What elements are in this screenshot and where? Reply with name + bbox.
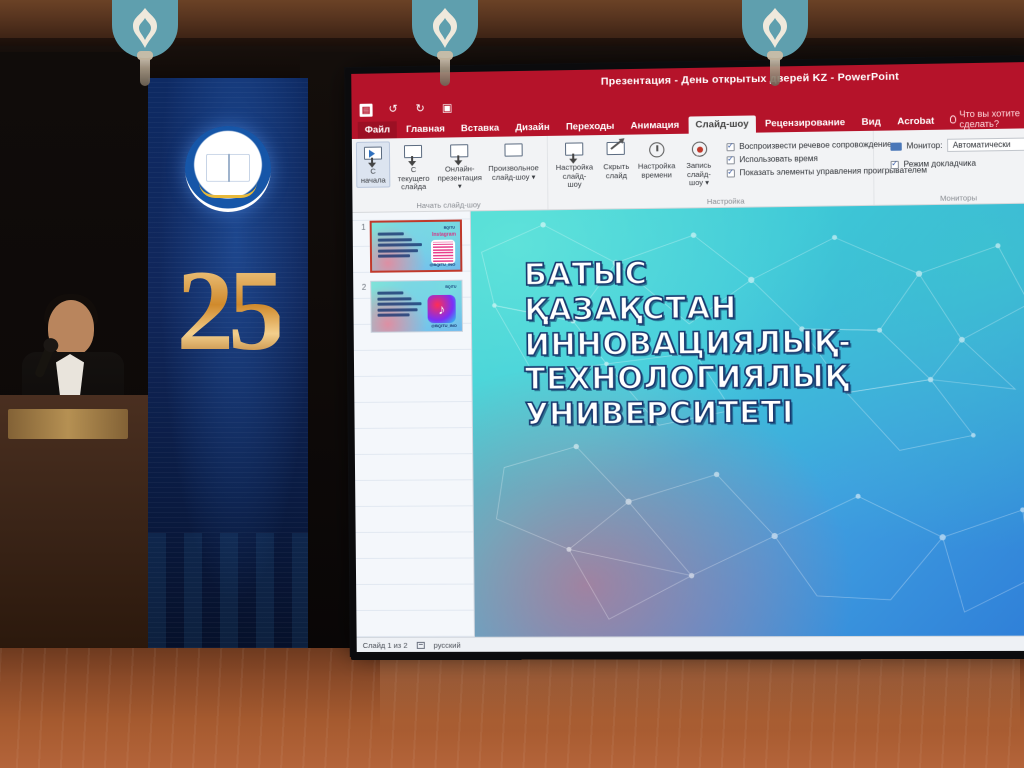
slide-title-line: ИННОВАЦИЯЛЫҚ- [524,324,1010,364]
notes-icon[interactable] [417,642,425,649]
from-beginning-button[interactable]: С начала [356,141,390,188]
anniversary-number: 25 [177,253,280,368]
tell-me-label: Что вы хотите сделать? [959,108,1024,130]
language-indicator[interactable]: русский [434,641,461,650]
slideshow-from-current-icon [401,143,425,165]
tab-view[interactable]: Вид [854,113,888,131]
slide-thumbnail-2[interactable]: BQITU ♪ @BQITU_INO [370,280,463,333]
tab-review[interactable]: Рецензирование [758,114,853,133]
slide-number: 2 [357,281,366,292]
tab-file[interactable]: Файл [358,121,397,139]
slide-title-line: УНИВЕРСИТЕТІ [525,395,1011,434]
list-item[interactable]: 2 BQITU ♪ @BQITU_INO [357,280,465,333]
start-slideshow-icon[interactable]: ▣ [441,102,454,115]
record-slideshow-button[interactable]: Запись слайд-шоу ▾ [679,136,718,190]
monitor-selector[interactable]: Монитор: Автоматически [890,138,1024,153]
projection-screen: Презентация - День открытых дверей KZ - … [349,60,1024,652]
group-label-monitors: Мониторы [874,192,1024,203]
checkbox-icon [726,143,734,151]
qr-code-icon [431,240,455,264]
banner-ornament-pattern [148,533,308,653]
checkbox-icon [890,160,898,168]
custom-slideshow-label: Произвольное слайд-шоу ▾ [488,164,539,182]
present-online-label: Онлайн-презентация ▾ [438,165,482,191]
presenter-view-label: Режим докладчика [904,159,976,169]
hide-slide-label: Скрыть слайд [601,163,632,181]
thumbnail-brand: BQITU [445,285,456,289]
redo-icon[interactable]: ↻ [414,102,427,115]
hide-slide-button[interactable]: Скрыть слайд [599,138,634,183]
monitor-value[interactable]: Автоматически [948,138,1024,152]
tab-design[interactable]: Дизайн [508,119,557,137]
scene-root: 25 Презентация - День открытых дверей KZ… [0,0,1024,768]
setup-slideshow-button[interactable]: Настройка слайд-шоу [553,138,595,191]
setup-slideshow-label: Настройка слайд-шоу [556,163,594,189]
from-current-slide-button[interactable]: С текущего слайда [394,141,433,194]
ribbon[interactable]: С начала С текущего слайда Онлайн-презен… [350,128,1024,213]
monitor-icon [890,142,901,150]
slide-title-line: ҚАЗАҚСТАН [524,288,1010,329]
podium [0,395,148,685]
thumbnail-network: Instagram [432,232,456,238]
hall-floor [0,648,1024,768]
slide-thumbnail-1[interactable]: BQITU Instagram @BQITU_INO [370,220,463,273]
checkbox-icon [726,156,734,164]
slideshow-from-start-icon [361,144,385,166]
slide-number: 1 [357,221,366,232]
tassel [440,56,450,86]
tab-insert[interactable]: Вставка [454,119,506,137]
ornament-icon [425,6,465,50]
tab-slideshow[interactable]: Слайд-шоу [688,115,756,133]
slide-title-line: БАТЫС [524,253,1010,294]
from-current-slide-label: С текущего слайда [396,166,431,192]
lightbulb-icon [950,115,957,123]
custom-slideshow-button[interactable]: Произвольное слайд-шоу ▾ [486,139,541,184]
presenter-view-checkbox[interactable]: Режим докладчика [890,158,1024,169]
tab-transitions[interactable]: Переходы [559,118,622,136]
ornament-icon [125,6,165,50]
ribbon-group-monitors: Монитор: Автоматически Режим докладчика … [873,128,1024,205]
tab-home[interactable]: Главная [399,120,452,138]
group-label-setup: Настройка [665,196,787,207]
tab-animations[interactable]: Анимация [623,117,686,135]
tassel [140,56,150,86]
list-item[interactable]: 1 BQITU Instagram @BQITU_INO [357,219,465,272]
window-title: Презентация - День открытых дверей KZ - … [601,71,899,88]
from-beginning-label: С начала [359,167,387,184]
workspace: 1 BQITU Instagram @BQITU_INO 2 [351,204,1024,637]
use-timings-label: Использовать время [739,154,818,164]
tassel [770,56,780,86]
rehearse-timings-icon [644,139,669,162]
slide-thumbnail-panel[interactable]: 1 BQITU Instagram @BQITU_INO 2 [351,211,475,637]
thumbnail-text-lines [378,232,422,260]
monitor-label: Монитор: [907,141,943,151]
led-banner-wall: 25 [148,78,308,653]
record-slideshow-label: Запись слайд-шоу ▾ [682,162,717,188]
slide-canvas[interactable]: БАТЫС ҚАЗАҚСТАН ИННОВАЦИЯЛЫҚ- ТЕХНОЛОГИЯ… [471,204,1024,637]
checkbox-icon [726,169,734,177]
ribbon-group-start-slideshow: С начала С текущего слайда Онлайн-презен… [350,136,548,212]
thumbnail-brand: BQITU [444,226,455,230]
setup-slideshow-icon [562,140,586,163]
undo-icon[interactable]: ↺ [387,103,400,116]
save-icon[interactable]: ▤ [360,103,373,116]
slide-counter: Слайд 1 из 2 [363,641,408,650]
rehearse-timings-button[interactable]: Настройка времени [637,137,675,182]
university-emblem-icon [185,126,271,212]
thumbnail-handle: @BQITU_INO [431,323,457,328]
present-online-button[interactable]: Онлайн-презентация ▾ [437,140,483,193]
present-online-icon [447,142,471,164]
custom-slideshow-icon [501,141,525,163]
group-label-start-slideshow: Начать слайд-шоу [350,199,547,211]
tell-me-box[interactable]: Что вы хотите сделать? [950,108,1024,130]
ribbon-group-setup: Настройка слайд-шоу Скрыть слайд Настрой… [547,131,874,210]
ornament-icon [755,6,795,50]
slide-title-line: ТЕХНОЛОГИЯЛЫҚ [525,359,1011,399]
slide-title: БАТЫС ҚАЗАҚСТАН ИННОВАЦИЯЛЫҚ- ТЕХНОЛОГИЯ… [524,253,1011,434]
tiktok-logo-icon: ♪ [427,295,455,323]
record-slideshow-icon [686,138,711,161]
thumbnail-handle: @BQITU_INO [429,262,455,267]
thumbnail-text-lines [377,291,421,319]
rehearse-timings-label: Настройка времени [638,162,676,180]
tab-acrobat[interactable]: Acrobat [890,112,942,130]
hide-slide-icon [604,140,629,163]
status-bar: Слайд 1 из 2 русский [355,636,1024,652]
play-narrations-label: Воспроизвести речевое сопровождение [739,140,892,151]
